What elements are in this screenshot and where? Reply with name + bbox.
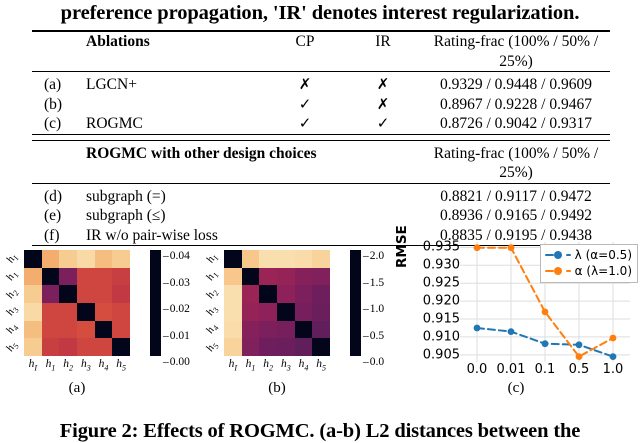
heatmap-xtick: hI: [224, 358, 242, 374]
heatmap-cell: [224, 303, 242, 321]
heatmap-cell: [95, 268, 113, 286]
heatmap-cell: [259, 338, 277, 356]
heatmap-b-yaxis-labels: hIh1h2h3h4h5: [202, 250, 226, 356]
ytick-label: 0.915: [423, 312, 460, 327]
xtick-label: 0.1: [535, 362, 556, 377]
heatmap-cell: [95, 250, 113, 268]
heatmap-cell: [242, 338, 260, 356]
heatmap-cell: [242, 303, 260, 321]
heatmap-xtick: h4: [95, 358, 113, 374]
table-header-row: AblationsCPIRRating-frac (100% / 50% / 2…: [32, 31, 610, 72]
heatmap-a-grid: [24, 250, 130, 356]
cross-icon: ✗: [377, 95, 390, 113]
heatmap-cell: [95, 303, 113, 321]
check-icon: ✓: [299, 95, 312, 113]
heatmap-cell: [224, 250, 242, 268]
heatmap-cell: [224, 285, 242, 303]
heatmap-cell: [112, 250, 130, 268]
heatmap-cell: [59, 338, 77, 356]
heatmap-cell: [42, 285, 60, 303]
heatmap-cell: [112, 268, 130, 286]
heatmap-cell: [42, 268, 60, 286]
heatmap-b-xaxis-labels: hIh1h2h3h4h5: [224, 358, 330, 374]
colorbar-tick: 2.0: [363, 250, 384, 262]
caption-bottom-text: Figure 2: Effects of ROGMC. (a-b) L2 dis…: [0, 420, 640, 443]
ytick-label: 0.905: [423, 347, 460, 362]
heatmap-xtick: h2: [259, 358, 277, 374]
heatmap-xtick: h4: [295, 358, 313, 374]
heatmap-cell: [277, 321, 295, 339]
check-icon: ✓: [377, 114, 390, 132]
heatmap-cell: [112, 303, 130, 321]
heatmap-cell: [95, 338, 113, 356]
heatmap-b: hIh1h2h3h4h5 hIh1h2h3h4h5 2.01.51.00.50.…: [198, 228, 394, 398]
heatmap-cell: [295, 268, 313, 286]
ablation-table: AblationsCPIRRating-frac (100% / 50% / 2…: [32, 30, 610, 249]
colorbar-tick: 0.01: [163, 330, 190, 342]
heatmap-cell: [224, 321, 242, 339]
heatmap-cell: [77, 250, 95, 268]
heatmap-cell: [312, 268, 330, 286]
heatmap-cell: [42, 250, 60, 268]
xtick-label: 0.01: [497, 362, 526, 377]
heatmap-cell: [59, 303, 77, 321]
figure-panel-a: hIh1h2h3h4h5 hIh1h2h3h4h5 0.040.030.020.…: [2, 228, 194, 398]
heatmap-xtick: h1: [42, 358, 60, 374]
heatmap-cell: [312, 321, 330, 339]
heatmap-cell: [77, 338, 95, 356]
figure-panel-c: RMSE 0.9350.9300.9250.9200.9150.9100.905…: [396, 228, 640, 378]
legend-label-lambda: λ (α=0.5): [575, 247, 632, 263]
heatmap-cell: [242, 285, 260, 303]
heatmap-cell: [277, 268, 295, 286]
xtick-label: 1.0: [603, 362, 624, 377]
heatmap-cell: [42, 303, 60, 321]
legend-marker-alpha: [545, 266, 571, 276]
heatmap-cell: [277, 250, 295, 268]
heatmap-cell: [24, 268, 42, 286]
ytick-label: 0.920: [423, 294, 460, 309]
heatmap-b-grid: [224, 250, 330, 356]
xtick-label: 0.5: [569, 362, 590, 377]
heatmap-a-colorbar: [150, 250, 161, 356]
table-row: (b)✓✗0.8967 / 0.9228 / 0.9467: [32, 95, 610, 115]
heatmap-cell: [295, 338, 313, 356]
heatmap-cell: [59, 250, 77, 268]
figure-b-label: (b): [202, 380, 352, 397]
heatmap-cell: [42, 321, 60, 339]
heatmap-cell: [112, 321, 130, 339]
heatmap-cell: [295, 303, 313, 321]
ablation-table-wrapper: AblationsCPIRRating-frac (100% / 50% / 2…: [32, 30, 610, 249]
heatmap-cell: [259, 285, 277, 303]
paper-page: preference propagation, 'IR' denotes int…: [0, 0, 640, 442]
table-row: (c)ROGMC✓✓0.8726 / 0.9042 / 0.9317: [32, 114, 610, 134]
heatmap-cell: [295, 321, 313, 339]
heatmap-cell: [24, 303, 42, 321]
line-chart-c: RMSE 0.9350.9300.9250.9200.9150.9100.905…: [396, 228, 640, 378]
heatmap-cell: [24, 250, 42, 268]
heatmap-cell: [259, 268, 277, 286]
heatmap-cell: [24, 338, 42, 356]
cross-icon: ✗: [377, 75, 390, 93]
colorbar-tick: 0.03: [163, 277, 190, 289]
heatmap-cell: [259, 250, 277, 268]
heatmap-cell: [312, 303, 330, 321]
heatmap-cell: [95, 321, 113, 339]
heatmap-xtick: h2: [59, 358, 77, 374]
ytick-label: 0.935: [423, 240, 460, 255]
legend-entry-alpha: α (λ=1.0): [545, 263, 632, 279]
colorbar-tick: 0.00: [163, 356, 190, 368]
colorbar-tick: 0.0: [363, 356, 384, 368]
heatmap-cell: [277, 303, 295, 321]
heatmap-cell: [77, 285, 95, 303]
heatmap-xtick: h3: [77, 358, 95, 374]
figure-c-label: (c): [426, 380, 606, 397]
heatmap-cell: [59, 321, 77, 339]
heatmap-cell: [259, 321, 277, 339]
line-chart-ytick-labels: 0.9350.9300.9250.9200.9150.9100.905: [408, 242, 460, 362]
heatmap-cell: [242, 321, 260, 339]
table-row: (e)subgraph (≤)0.8936 / 0.9165 / 0.9492: [32, 206, 610, 226]
legend-marker-lambda: [545, 250, 571, 260]
heatmap-cell: [224, 338, 242, 356]
heatmap-cell: [77, 321, 95, 339]
heatmap-cell: [24, 321, 42, 339]
heatmap-xtick: h3: [277, 358, 295, 374]
ytick-label: 0.925: [423, 276, 460, 291]
heatmap-b-colorbar: [350, 250, 361, 356]
heatmap-cell: [277, 338, 295, 356]
heatmap-xtick: h1: [242, 358, 260, 374]
heatmap-cell: [312, 338, 330, 356]
figure-panel-b: hIh1h2h3h4h5 hIh1h2h3h4h5 2.01.51.00.50.…: [198, 228, 394, 398]
heatmap-cell: [77, 268, 95, 286]
heatmap-cell: [242, 250, 260, 268]
check-icon: ✓: [299, 114, 312, 132]
heatmap-cell: [59, 268, 77, 286]
heatmap-xtick: hI: [24, 358, 42, 374]
heatmap-cell: [59, 285, 77, 303]
figure-a-label: (a): [2, 380, 152, 397]
heatmap-cell: [95, 285, 113, 303]
heatmap-cell: [312, 285, 330, 303]
colorbar-tick: 0.5: [363, 330, 384, 342]
heatmap-cell: [24, 285, 42, 303]
legend-label-alpha: α (λ=1.0): [575, 263, 632, 279]
heatmap-cell: [295, 285, 313, 303]
figure-row: hIh1h2h3h4h5 hIh1h2h3h4h5 0.040.030.020.…: [0, 228, 640, 418]
cross-icon: ✗: [299, 75, 312, 93]
table-row: (d)subgraph (=)0.8821 / 0.9117 / 0.9472: [32, 183, 610, 206]
colorbar-tick: 0.02: [163, 303, 190, 315]
heatmap-cell: [242, 268, 260, 286]
heatmap-cell: [42, 338, 60, 356]
line-chart-legend: λ (α=0.5) α (λ=1.0): [540, 244, 638, 283]
heatmap-a-xaxis-labels: hIh1h2h3h4h5: [24, 358, 130, 374]
heatmap-a-yaxis-labels: hIh1h2h3h4h5: [2, 250, 26, 356]
colorbar-tick: 1.0: [363, 303, 384, 315]
colorbar-tick: 1.5: [363, 277, 384, 289]
table-section-header-row: ROGMC with other design choicesRating-fr…: [32, 140, 610, 183]
heatmap-cell: [277, 285, 295, 303]
heatmap-cell: [295, 250, 313, 268]
heatmap-cell: [112, 338, 130, 356]
line-chart-xtick-labels: 0.00.010.10.51.0: [460, 362, 628, 380]
caption-top-text: preference propagation, 'IR' denotes int…: [0, 0, 640, 26]
legend-entry-lambda: λ (α=0.5): [545, 247, 632, 263]
heatmap-xtick: h5: [312, 358, 330, 374]
heatmap-cell: [77, 303, 95, 321]
colorbar-tick: 0.04: [163, 250, 190, 262]
heatmap-xtick: h5: [112, 358, 130, 374]
heatmap-cell: [112, 285, 130, 303]
xtick-label: 0.0: [467, 362, 488, 377]
table-row: (a)LGCN+✗✗0.9329 / 0.9448 / 0.9609: [32, 72, 610, 95]
heatmap-a: hIh1h2h3h4h5 hIh1h2h3h4h5 0.040.030.020.…: [2, 228, 194, 398]
ytick-label: 0.930: [423, 258, 460, 273]
ytick-label: 0.910: [423, 329, 460, 344]
heatmap-cell: [259, 303, 277, 321]
heatmap-cell: [224, 268, 242, 286]
heatmap-cell: [312, 250, 330, 268]
